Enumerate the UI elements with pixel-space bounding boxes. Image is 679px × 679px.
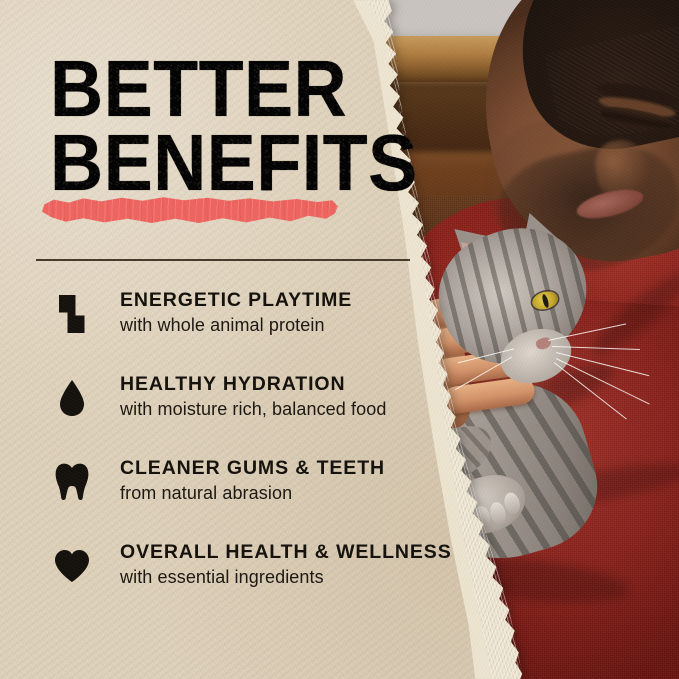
list-item: CLEANER GUMS & TEETH from natural abrasi…	[36, 456, 456, 540]
list-item-text: HEALTHY HYDRATION with moisture rich, ba…	[120, 372, 386, 422]
benefit-title: HEALTHY HYDRATION	[120, 372, 386, 396]
tooth-icon	[52, 460, 92, 504]
benefit-subtitle: from natural abrasion	[120, 481, 385, 505]
list-item: ENERGETIC PLAYTIME with whole animal pro…	[36, 288, 456, 372]
benefit-subtitle: with moisture rich, balanced food	[120, 397, 386, 421]
list-item-text: CLEANER GUMS & TEETH from natural abrasi…	[120, 456, 385, 506]
headline-line-2: BENEFITS	[50, 126, 418, 200]
list-item: HEALTHY HYDRATION with moisture rich, ba…	[36, 372, 456, 456]
benefit-subtitle: with essential ingredients	[120, 565, 452, 589]
benefits-poster: BETTER BENEFITS ENERGETIC PLAYTIME with …	[0, 0, 679, 679]
benefit-title: CLEANER GUMS & TEETH	[120, 456, 385, 480]
lightning-bolt-icon	[52, 292, 92, 336]
water-droplet-icon	[52, 376, 92, 420]
benefits-list: ENERGETIC PLAYTIME with whole animal pro…	[36, 288, 456, 624]
list-item-text: OVERALL HEALTH & WELLNESS with essential…	[120, 540, 452, 590]
benefit-title: OVERALL HEALTH & WELLNESS	[120, 540, 452, 564]
poster-content: BETTER BENEFITS ENERGETIC PLAYTIME with …	[0, 0, 679, 679]
headline-line-1: BETTER	[50, 52, 418, 126]
benefit-subtitle: with whole animal protein	[120, 313, 352, 337]
divider	[36, 259, 410, 261]
benefit-title: ENERGETIC PLAYTIME	[120, 288, 352, 312]
list-item-text: ENERGETIC PLAYTIME with whole animal pro…	[120, 288, 352, 338]
heart-icon	[52, 544, 92, 588]
list-item: OVERALL HEALTH & WELLNESS with essential…	[36, 540, 456, 624]
page-title: BETTER BENEFITS	[50, 52, 450, 199]
